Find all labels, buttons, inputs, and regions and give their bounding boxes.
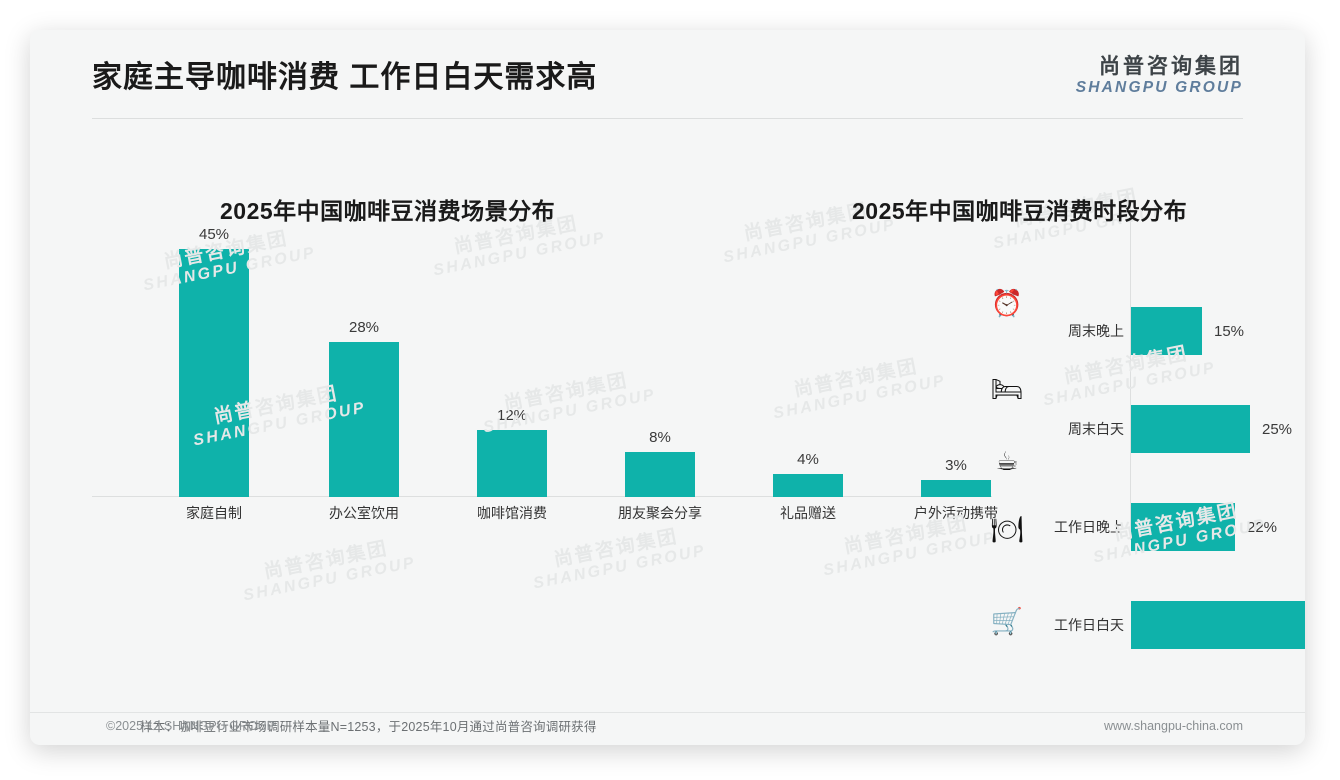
slide-header: 家庭主导咖啡消费 工作日白天需求高 尚普咨询集团 SHANGPU GROUP [30,30,1305,120]
charts-region: 2025年中国咖啡豆消费场景分布 2025年中国咖啡豆消费时段分布 [30,120,1305,660]
brand-name-cn: 尚普咨询集团 [1076,55,1243,79]
slide-card: 尚普咨询集团 SHANGPU GROUP 尚普咨询集团 SHANGPU GROU… [30,30,1305,745]
brand-name-en: SHANGPU GROUP [1076,79,1243,98]
footer-bar: ©2025.12 SHANGPU GROUP www.shangpu-china… [30,712,1305,745]
website-link[interactable]: www.shangpu-china.com [1104,719,1243,733]
right-chart-title: 2025年中国咖啡豆消费时段分布 [852,192,1187,226]
header-divider [92,118,1243,119]
page-title: 家庭主导咖啡消费 工作日白天需求高 [92,52,597,96]
brand-logo: 尚普咨询集团 SHANGPU GROUP [1076,55,1243,98]
left-chart-title: 2025年中国咖啡豆消费场景分布 [220,192,555,226]
copyright-text: ©2025.12 SHANGPU GROUP [106,719,275,733]
